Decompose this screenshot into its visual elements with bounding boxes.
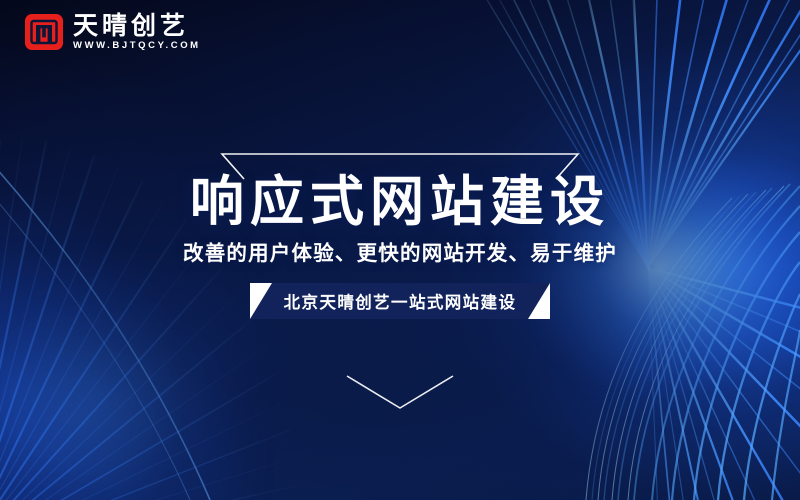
page-subtitle: 改善的用户体验、更快的网站开发、易于维护 — [0, 242, 800, 267]
hero-content: 响应式网站建设 改善的用户体验、更快的网站开发、易于维护 北京天晴创艺一站式网站… — [0, 148, 800, 319]
ribbon-label: 北京天晴创艺一站式网站建设 — [250, 283, 550, 319]
logo-company-name: 天晴创艺 — [73, 14, 201, 39]
brand-logo[interactable]: 天晴创艺 WWW.BJTQCY.COM — [24, 12, 201, 52]
logo-wordmark: 天晴创艺 WWW.BJTQCY.COM — [73, 14, 201, 51]
angled-bracket-top-decoration — [0, 148, 800, 182]
tianqing-chuangyi-logo-mark — [24, 12, 64, 52]
chevron-down-decoration — [345, 374, 455, 410]
promotional-banner: 天晴创艺 WWW.BJTQCY.COM 响应式网站建设 改善的用户体验、更快的网… — [0, 0, 800, 500]
logo-website-url: WWW.BJTQCY.COM — [73, 41, 201, 51]
tagline-ribbon: 北京天晴创艺一站式网站建设 — [250, 283, 550, 319]
